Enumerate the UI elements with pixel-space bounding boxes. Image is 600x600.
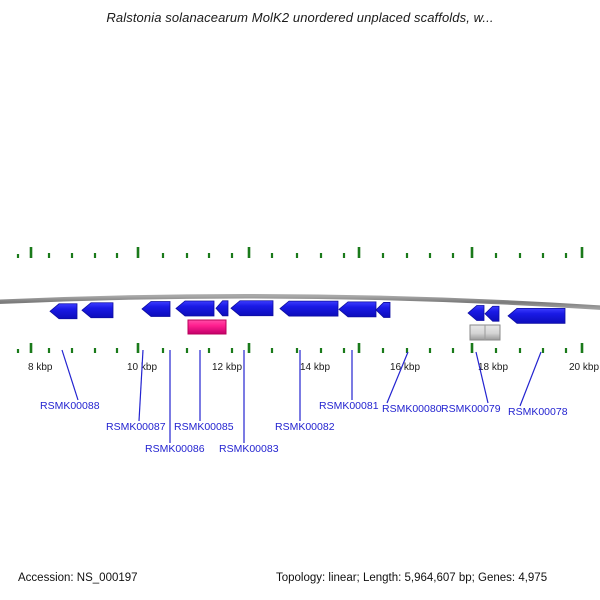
gene-label-leader-line [139, 350, 143, 421]
feature-tick [358, 247, 361, 258]
accession-label: Accession: NS_000197 [18, 572, 138, 584]
gene-arrow-2[interactable] [82, 303, 113, 318]
gene-arrow-6[interactable] [231, 301, 273, 316]
feature-tick [48, 348, 50, 353]
gene-label[interactable]: RSMK00080 [382, 403, 442, 415]
feature-tick [382, 348, 384, 353]
gene-arrow-3[interactable] [142, 301, 170, 316]
gene-label[interactable]: RSMK00079 [441, 403, 501, 415]
genome-track-canvas[interactable]: 8 kbp10 kbp12 kbp14 kbp16 kbp18 kbp20 kb… [0, 0, 600, 600]
feature-tick [343, 253, 345, 258]
gene-arrow-11[interactable] [485, 306, 499, 321]
feature-tick [208, 348, 210, 353]
feature-tick [382, 253, 384, 258]
ruler-tick-label: 8 kbp [28, 362, 53, 373]
gene-arrow-5[interactable] [216, 301, 228, 316]
feature-tick [581, 343, 584, 353]
gene-arrow-4[interactable] [176, 301, 214, 316]
feature-tick [519, 253, 521, 258]
feature-tick [48, 253, 50, 258]
feature-tick [429, 253, 431, 258]
feature-tick [162, 348, 164, 353]
feature-tick [542, 348, 544, 353]
feature-tick [565, 348, 567, 353]
gene-label[interactable]: RSMK00088 [40, 400, 100, 412]
feature-tick [137, 343, 140, 353]
feature-tick [30, 343, 33, 353]
feature-tick [343, 348, 345, 353]
feature-tick [94, 253, 96, 258]
feature-tick [495, 348, 497, 353]
feature-tick [406, 253, 408, 258]
status-bar: Accession: NS_000197 Topology: linear; L… [0, 570, 600, 594]
feature-tick [296, 348, 298, 353]
feature-tick [30, 247, 33, 258]
gene-label[interactable]: RSMK00081 [319, 400, 379, 412]
feature-tick [231, 253, 233, 258]
gene-arrow-9[interactable] [376, 302, 390, 317]
gene-label[interactable]: RSMK00082 [275, 421, 335, 433]
feature-tick [137, 247, 140, 258]
sequence-summary-label: Topology: linear; Length: 5,964,607 bp; … [276, 572, 547, 584]
feature-tick [248, 247, 251, 258]
feature-tick [71, 253, 73, 258]
coordinate-ruler: 8 kbp10 kbp12 kbp14 kbp16 kbp18 kbp20 kb… [28, 362, 599, 373]
gene-arrow-8[interactable] [339, 302, 376, 317]
feature-tick [519, 348, 521, 353]
feature-tick [581, 247, 584, 258]
ruler-tick-label: 14 kbp [300, 362, 330, 373]
feature-tick [17, 349, 19, 353]
ruler-tick-label: 20 kbp [569, 362, 599, 373]
gene-arrow-7[interactable] [280, 301, 338, 316]
feature-tick [429, 348, 431, 353]
gene-arrow-10[interactable] [468, 306, 484, 321]
gene-arrow-12[interactable] [508, 308, 565, 323]
feature-tick [471, 343, 474, 353]
gene-label-leader-line [62, 350, 78, 400]
selected-gene-magenta[interactable] [188, 320, 226, 334]
gene-label-leader-line [476, 352, 488, 403]
gene-arrow-1[interactable] [50, 304, 77, 319]
gene-label[interactable]: RSMK00086 [145, 443, 205, 455]
feature-tick [208, 253, 210, 258]
genome-viewer: Ralstonia solanacearum MolK2 unordered u… [0, 0, 600, 600]
feature-tick [116, 348, 118, 353]
feature-tick [565, 253, 567, 258]
gene-label[interactable]: RSMK00085 [174, 421, 234, 433]
feature-tick [162, 253, 164, 258]
feature-tick [358, 343, 361, 353]
feature-tick [271, 348, 273, 353]
feature-tick [296, 253, 298, 258]
feature-tick [320, 253, 322, 258]
feature-tick [186, 348, 188, 353]
gene-arrow-layer[interactable] [50, 301, 565, 324]
feature-tick [17, 254, 19, 258]
feature-tick [320, 348, 322, 353]
feature-tick [452, 348, 454, 353]
feature-tick-track-top [17, 247, 583, 258]
gene-label-leader-line [387, 352, 408, 403]
feature-tick [71, 348, 73, 353]
ruler-tick-label: 16 kbp [390, 362, 420, 373]
gene-label[interactable]: RSMK00087 [106, 421, 166, 433]
feature-tick [94, 348, 96, 353]
feature-tick [452, 253, 454, 258]
feature-tick [542, 253, 544, 258]
feature-tick [248, 343, 251, 353]
gene-label-leader-line [520, 352, 541, 406]
feature-tick [271, 253, 273, 258]
ruler-tick-label: 18 kbp [478, 362, 508, 373]
gene-label[interactable]: RSMK00078 [508, 406, 568, 418]
ruler-tick-label: 12 kbp [212, 362, 242, 373]
gene-label[interactable]: RSMK00083 [219, 443, 279, 455]
feature-tick [116, 253, 118, 258]
gene-label-layer[interactable]: RSMK00088RSMK00087RSMK00086RSMK00085RSMK… [40, 400, 568, 455]
feature-tick [231, 348, 233, 353]
feature-tick [186, 253, 188, 258]
feature-tick [471, 247, 474, 258]
feature-tick [495, 253, 497, 258]
